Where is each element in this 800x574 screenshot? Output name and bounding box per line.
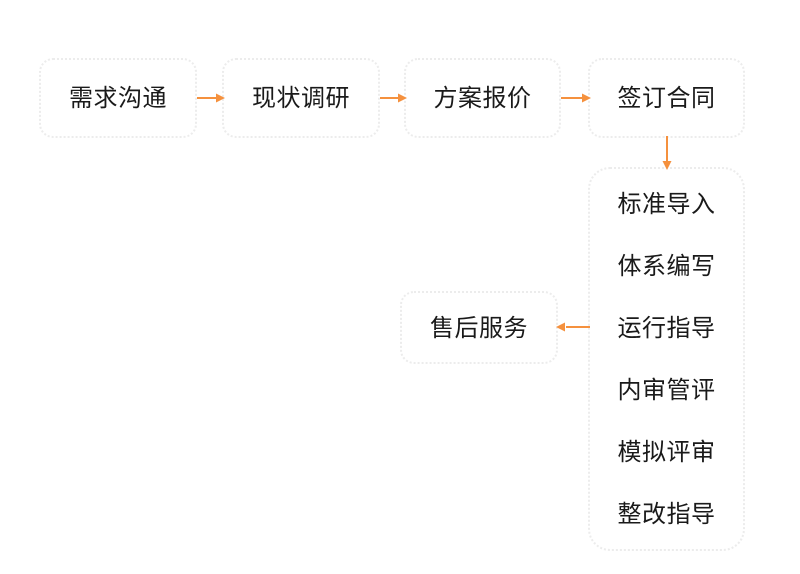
process-node-requirement-communication[interactable]: 需求沟通 bbox=[39, 58, 197, 138]
process-node-label: 售后服务 bbox=[430, 316, 528, 340]
process-node-label: 方案报价 bbox=[434, 86, 532, 110]
arrow-right-icon-research-to-quotation bbox=[380, 84, 407, 112]
process-node-status-research[interactable]: 现状调研 bbox=[222, 58, 380, 138]
process-node-label: 需求沟通 bbox=[69, 86, 167, 110]
process-node-after-sales-service[interactable]: 售后服务 bbox=[400, 291, 558, 364]
arrow-right-icon-quotation-to-contract bbox=[561, 84, 591, 112]
arrow-right-icon-requirement-to-research bbox=[197, 84, 225, 112]
process-node-proposal-quotation[interactable]: 方案报价 bbox=[404, 58, 561, 138]
implementation-stack-group[interactable]: 标准导入 体系编写 运行指导 内审管评 模拟评审 整改指导 bbox=[588, 167, 745, 551]
stack-item-rectification-guidance[interactable]: 整改指导 bbox=[618, 502, 716, 526]
stack-item-system-writing[interactable]: 体系编写 bbox=[618, 254, 716, 278]
implementation-stack-list: 标准导入 体系编写 运行指导 内审管评 模拟评审 整改指导 bbox=[590, 169, 743, 549]
stack-item-mock-review[interactable]: 模拟评审 bbox=[618, 440, 716, 464]
arrow-down-icon-contract-to-stack bbox=[653, 136, 681, 170]
stack-item-internal-audit-review[interactable]: 内审管评 bbox=[618, 378, 716, 402]
arrow-left-icon-stack-to-after-sales bbox=[556, 313, 590, 341]
stack-item-operation-guidance[interactable]: 运行指导 bbox=[618, 316, 716, 340]
stack-item-standard-import[interactable]: 标准导入 bbox=[618, 192, 716, 216]
process-node-label: 现状调研 bbox=[252, 86, 350, 110]
process-node-label: 签订合同 bbox=[618, 86, 716, 110]
flowchart-canvas: 需求沟通 现状调研 方案报价 签订合同 售后服务 标准导入 体系编写 运行指导 … bbox=[0, 0, 800, 574]
process-node-sign-contract[interactable]: 签订合同 bbox=[588, 58, 745, 138]
